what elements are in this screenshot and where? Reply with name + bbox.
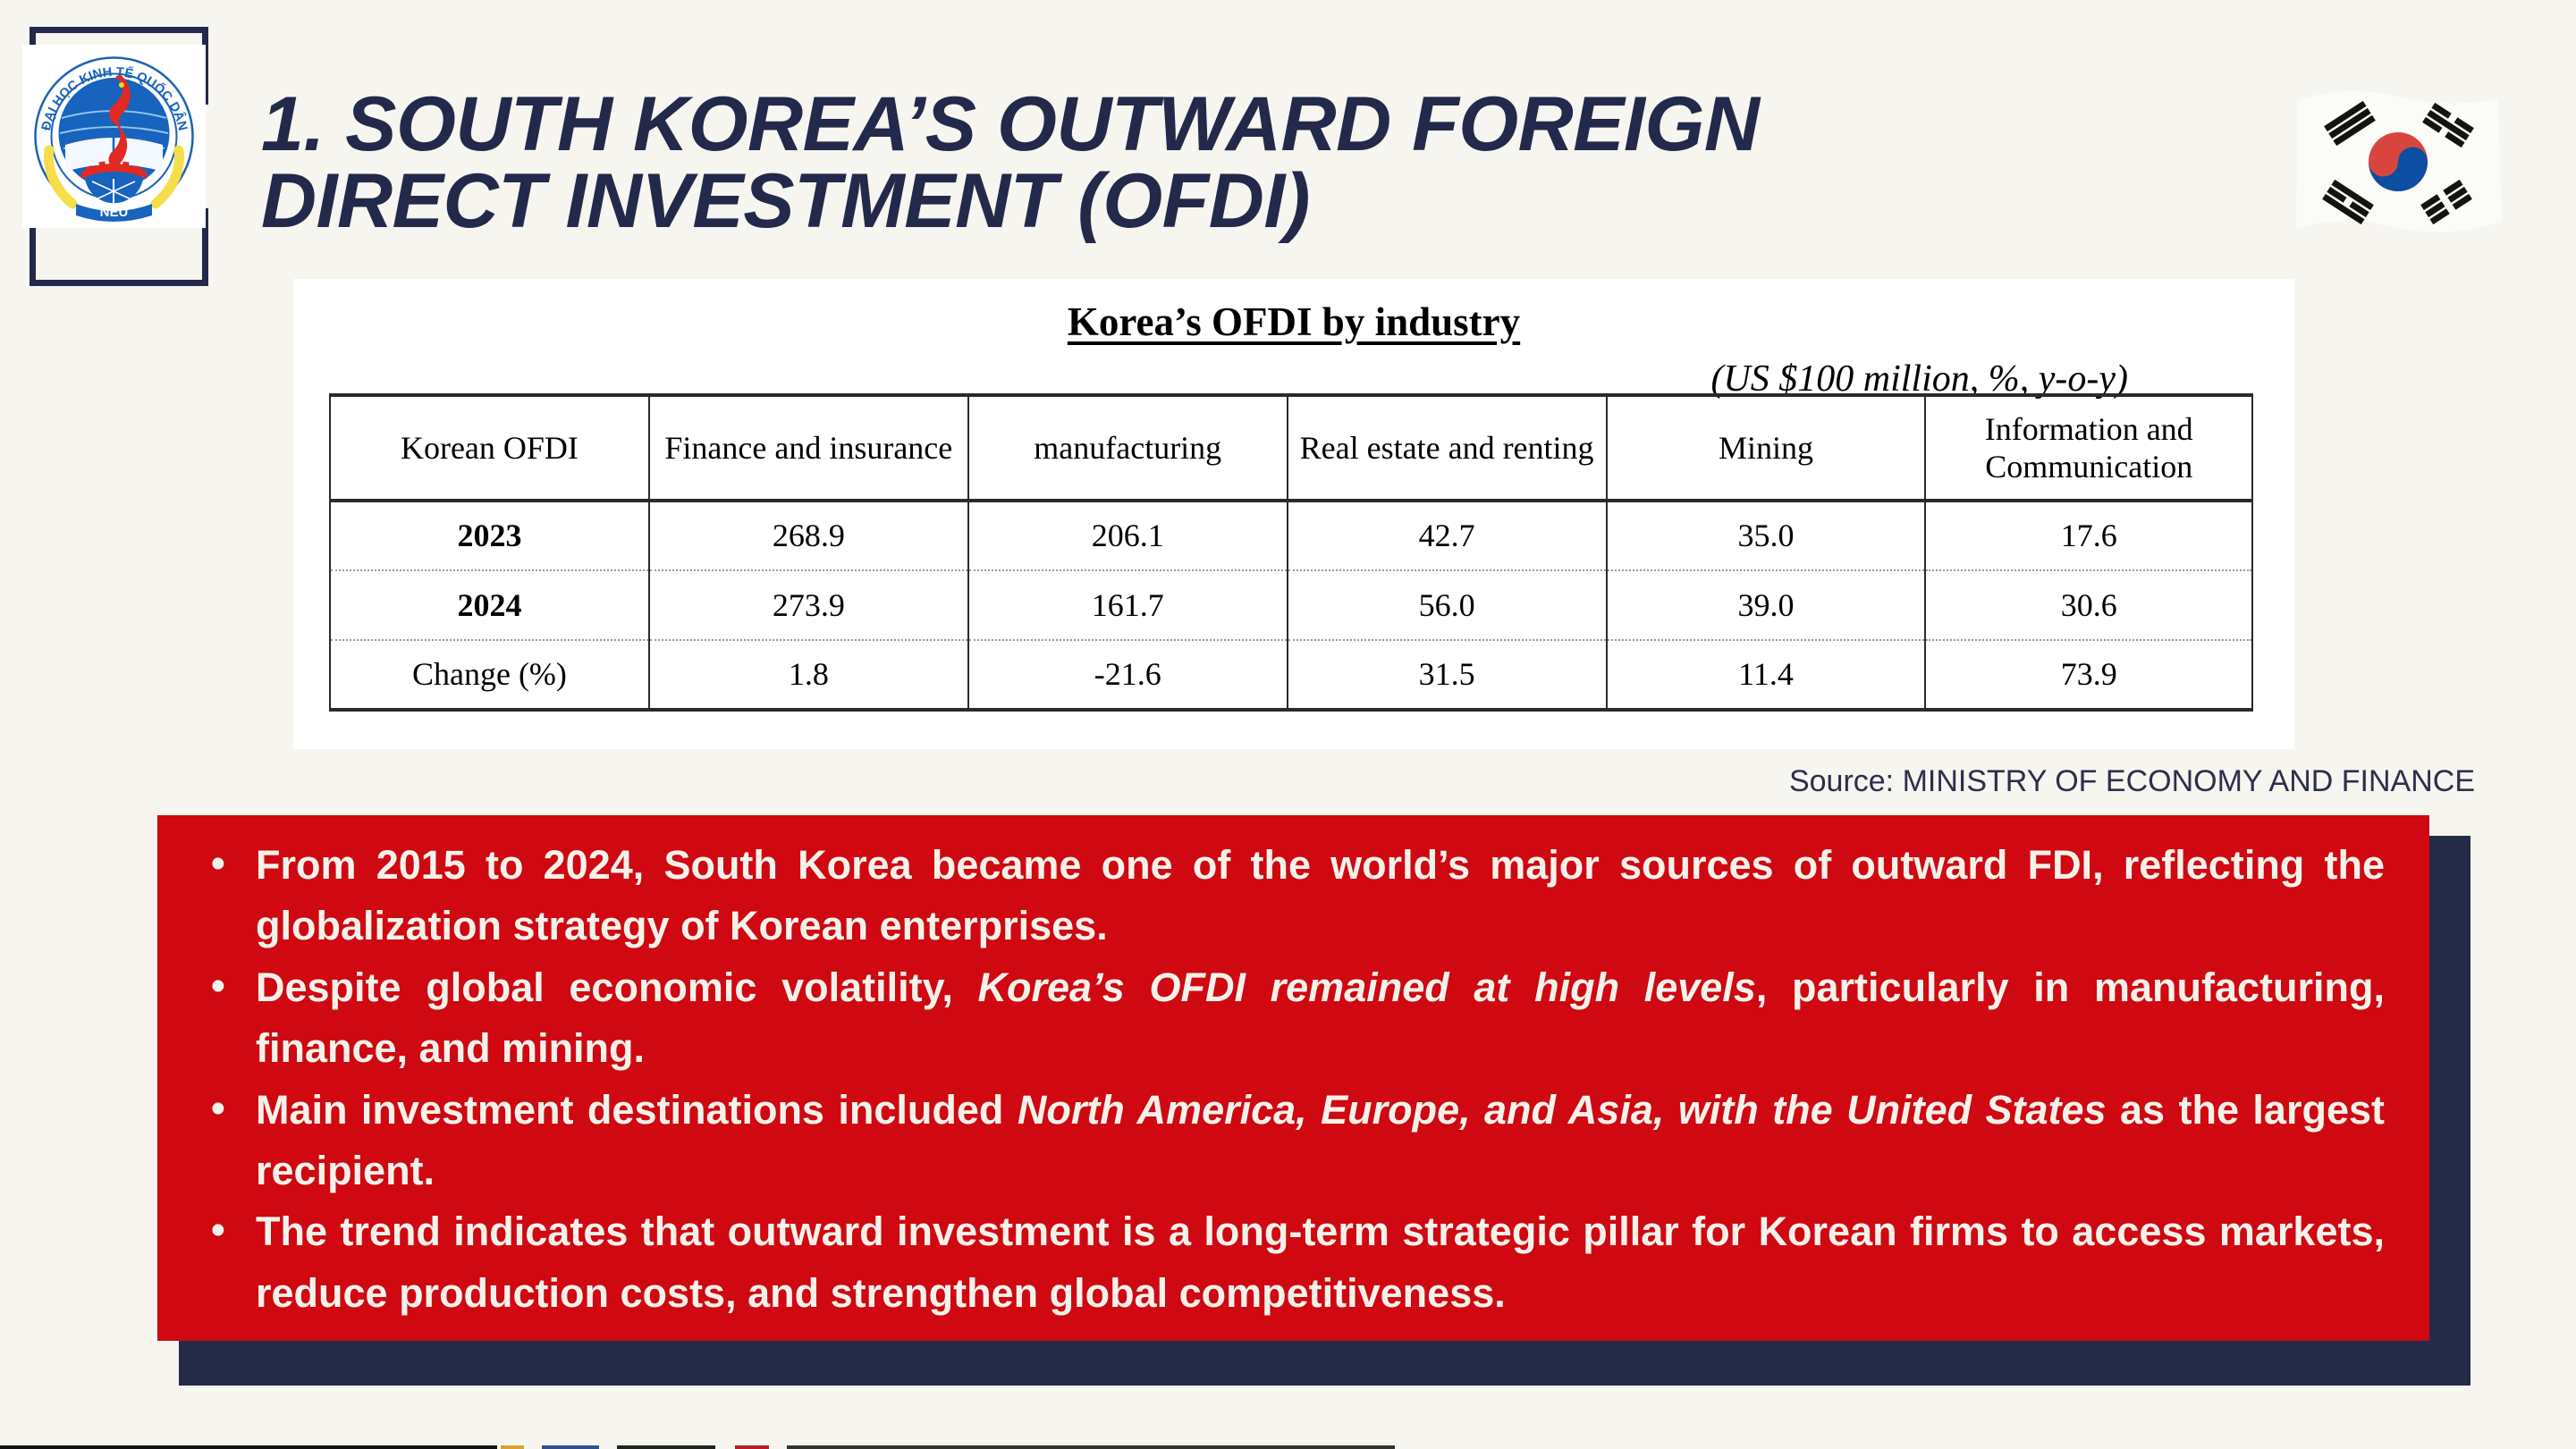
table-head: Korean OFDI Finance and insurance manufa… — [330, 395, 2252, 501]
row-label-2023: 2023 — [330, 501, 649, 570]
list-item: From 2015 to 2024, South Korea became on… — [202, 835, 2385, 957]
table-header-row: Korean OFDI Finance and insurance manufa… — [330, 395, 2252, 501]
table-row: Change (%) 1.8 -21.6 31.5 11.4 73.9 — [330, 640, 2252, 710]
col-header-real-estate-and-renting: Real estate and renting — [1288, 395, 1607, 501]
peek-bar — [0, 1445, 497, 1449]
callout-bullet-list: From 2015 to 2024, South Korea became on… — [202, 835, 2385, 1324]
callout-box: From 2015 to 2024, South Korea became on… — [157, 815, 2429, 1341]
col-header-finance-and-insurance: Finance and insurance — [649, 395, 968, 501]
row-label-2024: 2024 — [330, 570, 649, 640]
list-item: The trend indicates that outward investm… — [202, 1201, 2385, 1324]
cell-2024-manufacturing: 161.7 — [968, 570, 1288, 640]
page-title-line-2: DIRECT INVESTMENT (OFDI) — [261, 163, 2228, 240]
page-title-line-1: 1. SOUTH KOREA’S OUTWARD FOREIGN — [261, 86, 2228, 163]
list-item: Main investment destinations included No… — [202, 1080, 2385, 1202]
col-header-information-and-communication: Information and Communication — [1925, 395, 2252, 501]
cell-2023-mining: 35.0 — [1607, 501, 1926, 570]
source-attribution: Source: MINISTRY OF ECONOMY AND FINANCE — [1789, 764, 2475, 799]
cell-2023-manufacturing: 206.1 — [968, 501, 1288, 570]
cell-change-real-estate: 31.5 — [1288, 640, 1607, 710]
list-item: Despite global economic volatility, Kore… — [202, 957, 2385, 1080]
col-header-mining: Mining — [1607, 395, 1926, 501]
cell-2024-real-estate: 56.0 — [1288, 570, 1607, 640]
neu-seal-icon: NEU ĐẠI HỌC KINH TẾ QUỐC DÂN — [22, 45, 206, 228]
table-body: 2023 268.9 206.1 42.7 35.0 17.6 2024 273… — [330, 501, 2252, 710]
cell-2023-real-estate: 42.7 — [1288, 501, 1607, 570]
peek-content-strip — [501, 1445, 1395, 1449]
cell-change-information: 73.9 — [1925, 640, 2252, 710]
cell-change-manufacturing: -21.6 — [968, 640, 1288, 710]
table-row: 2024 273.9 161.7 56.0 39.0 30.6 — [330, 570, 2252, 640]
cell-2024-information: 30.6 — [1925, 570, 2252, 640]
page-title: 1. SOUTH KOREA’S OUTWARD FOREIGN DIRECT … — [261, 86, 2228, 240]
neu-ribbon-label: NEU — [100, 205, 129, 220]
ofdi-table-panel: Korea’s OFDI by industry (US $100 millio… — [293, 279, 2294, 749]
table-title: Korea’s OFDI by industry — [293, 299, 2294, 345]
korea-ofdi-by-industry-table: Korean OFDI Finance and insurance manufa… — [329, 393, 2253, 712]
south-korea-flag-icon — [2291, 77, 2505, 247]
col-header-manufacturing: manufacturing — [968, 395, 1288, 501]
next-slide-peek — [0, 1445, 2576, 1449]
cell-2023-information: 17.6 — [1925, 501, 2252, 570]
cell-2023-finance: 268.9 — [649, 501, 968, 570]
row-label-change: Change (%) — [330, 640, 649, 710]
col-header-korean-ofdi: Korean OFDI — [330, 395, 649, 501]
neu-university-logo: NEU ĐẠI HỌC KINH TẾ QUỐC DÂN — [22, 45, 206, 228]
cell-change-mining: 11.4 — [1607, 640, 1926, 710]
table-row: 2023 268.9 206.1 42.7 35.0 17.6 — [330, 501, 2252, 570]
cell-2024-mining: 39.0 — [1607, 570, 1926, 640]
cell-change-finance: 1.8 — [649, 640, 968, 710]
south-korea-flag — [2291, 77, 2505, 247]
cell-2024-finance: 273.9 — [649, 570, 968, 640]
